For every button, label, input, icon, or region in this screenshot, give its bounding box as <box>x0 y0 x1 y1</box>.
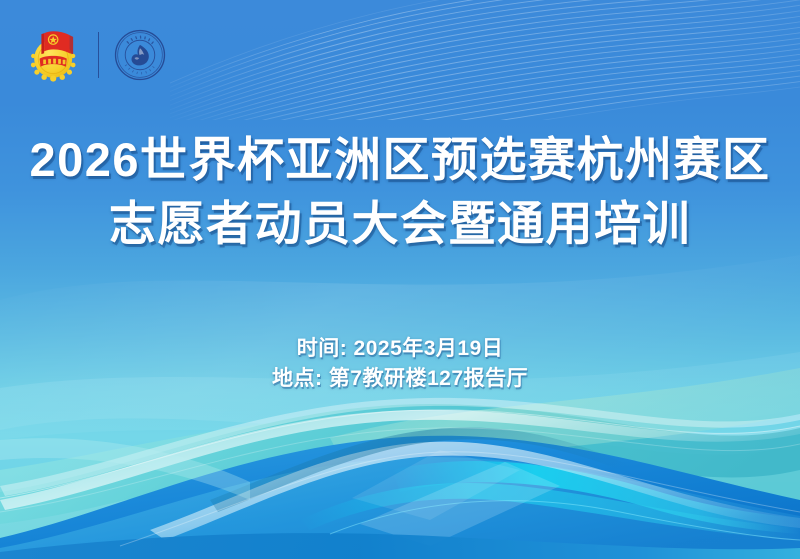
event-time: 时间: 2025年3月19日 <box>0 334 800 364</box>
communist-youth-league-emblem-icon <box>26 26 84 84</box>
logo-bar <box>26 26 167 84</box>
event-info: 时间: 2025年3月19日 地点: 第7教研楼127报告厅 <box>0 334 800 394</box>
university-seal-icon <box>113 28 167 82</box>
title-line-2: 志愿者动员大会暨通用培训 <box>0 192 800 256</box>
event-location: 地点: 第7教研楼127报告厅 <box>0 364 800 394</box>
event-banner: 2026世界杯亚洲区预选赛杭州赛区 志愿者动员大会暨通用培训 时间: 2025年… <box>0 0 800 559</box>
page-title: 2026世界杯亚洲区预选赛杭州赛区 志愿者动员大会暨通用培训 <box>0 128 800 256</box>
title-line-1: 2026世界杯亚洲区预选赛杭州赛区 <box>0 128 800 192</box>
logo-divider <box>98 32 99 78</box>
